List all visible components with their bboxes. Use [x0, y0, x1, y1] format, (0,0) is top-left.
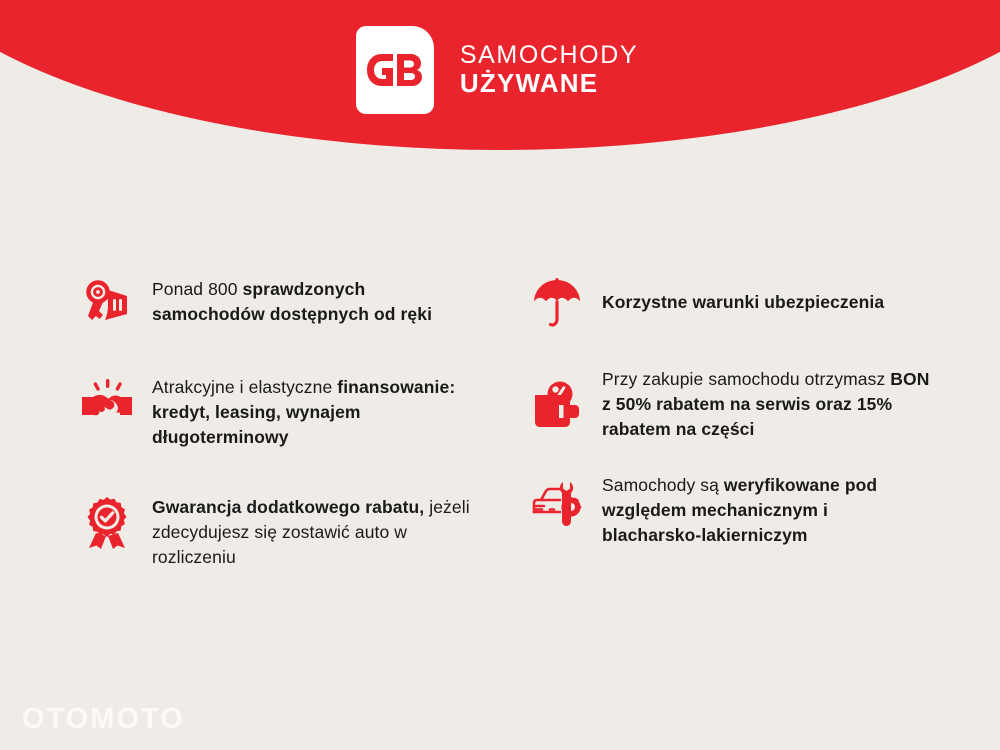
car-service-wrench-icon — [528, 472, 586, 534]
feature-lead: Samochody są — [602, 475, 724, 495]
brand-lockup: SAMOCHODY UŻYWANE — [0, 0, 1000, 160]
feature-text: Samochody są weryfikowane pod względem m… — [602, 468, 932, 548]
gb-logo-mark — [356, 26, 434, 114]
feature-lead: Przy zakupie samochodu otrzymasz — [602, 369, 890, 389]
brand-line-2: UŻYWANE — [460, 70, 638, 97]
brand-wordmark: SAMOCHODY UŻYWANE — [460, 43, 638, 97]
features-section: Ponad 800 sprawdzonych samochodów dostęp… — [0, 272, 1000, 570]
brand-line-1: SAMOCHODY — [460, 43, 638, 69]
feature-item-service-voucher: Przy zakupie samochodu otrzymasz BON z 5… — [528, 362, 980, 442]
feature-item-vehicle-inspection: Samochody są weryfikowane pod względem m… — [528, 468, 980, 548]
header-banner: SAMOCHODY UŻYWANE — [0, 0, 1000, 160]
wallet-percent-icon — [528, 374, 586, 436]
feature-item-insurance: Korzystne warunki ubezpieczenia — [528, 272, 980, 334]
logo-row: SAMOCHODY UŻYWANE — [356, 26, 638, 114]
feature-text: Przy zakupie samochodu otrzymasz BON z 5… — [602, 362, 932, 442]
feature-strong: Korzystne warunki ubezpieczenia — [602, 292, 884, 312]
otomoto-watermark: OTOMOTO — [22, 703, 185, 736]
feature-text: Korzystne warunki ubezpieczenia — [602, 272, 884, 315]
features-column-right: Korzystne warunki ubezpieczenia — [0, 272, 1000, 570]
umbrella-icon — [528, 272, 586, 334]
